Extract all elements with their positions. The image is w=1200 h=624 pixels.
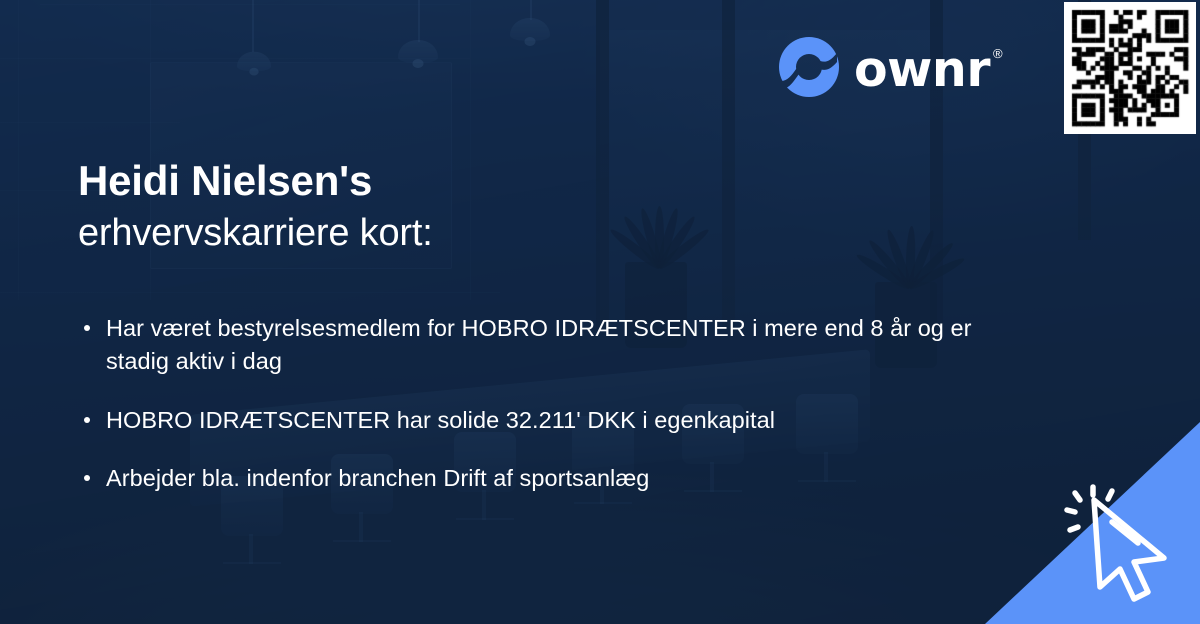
list-item-text: HOBRO IDRÆTSCENTER har solide 32.211' DK… [106,407,775,433]
registered-trademark-symbol: ® [993,47,1002,60]
list-item-text: Har været bestyrelsesmedlem for HOBRO ID… [106,315,972,374]
page-title: Heidi Nielsen's erhvervskarriere kort: [78,155,433,258]
headline-line-1: Heidi Nielsen's [78,155,433,206]
list-item-text: Arbejder bla. indenfor branchen Drift af… [106,465,649,491]
click-cursor-icon [1060,482,1186,602]
list-item: Har været bestyrelsesmedlem for HOBRO ID… [80,312,980,379]
brand-name: ownr [854,45,990,94]
highlights-list: Har været bestyrelsesmedlem for HOBRO ID… [80,312,980,495]
brand-wordmark: ownr ® [854,43,999,92]
list-item: HOBRO IDRÆTSCENTER har solide 32.211' DK… [80,404,980,437]
bullet-dot [84,417,90,423]
qr-code[interactable] [1064,2,1196,134]
business-card-banner: ownr ® Heidi Nielsen's erhvervskarriere … [0,0,1200,624]
list-item: Arbejder bla. indenfor branchen Drift af… [80,462,980,495]
bullet-dot [84,475,90,481]
headline-line-2: erhvervskarriere kort: [78,210,433,258]
brand-logo[interactable]: ownr ® [778,36,999,98]
qr-code-canvas [1064,2,1196,134]
ownr-circle-swoosh-icon [778,36,840,98]
bullet-dot [84,325,90,331]
